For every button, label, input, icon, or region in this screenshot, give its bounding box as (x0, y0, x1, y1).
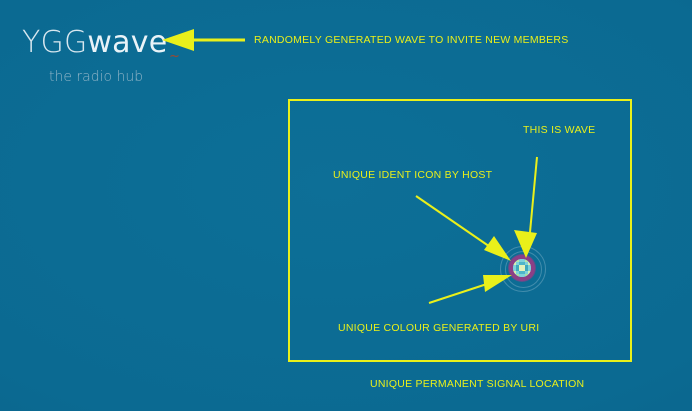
wave-signal-identicon[interactable] (500, 246, 546, 292)
brand-block: YGGwave ~ the radio hub (22, 26, 252, 96)
annotation-signal-location: UNIQUE PERMANENT SIGNAL LOCATION (370, 378, 584, 390)
logo-prefix: YGG (22, 25, 87, 60)
logo-tilde-accent: ~ (169, 52, 180, 62)
wave-preview-canvas: YGGwave ~ the radio hub (0, 0, 692, 411)
identicon-pattern-icon (513, 259, 531, 277)
annotation-unique-ident-icon: UNIQUE IDENT ICON BY HOST (333, 169, 492, 181)
annotation-this-is-wave: THIS IS WAVE (523, 124, 595, 136)
identicon-badge-ring (509, 255, 535, 281)
annotation-unique-colour: UNIQUE COLOUR GENERATED BY URI (338, 322, 539, 334)
annotation-randomly-generated-wave: RANDOMELY GENERATED WAVE TO INVITE NEW M… (254, 34, 569, 46)
logo-suffix: wave (87, 25, 167, 60)
page-title: YGGwave (22, 26, 167, 60)
brand-tagline: the radio hub (49, 69, 143, 85)
